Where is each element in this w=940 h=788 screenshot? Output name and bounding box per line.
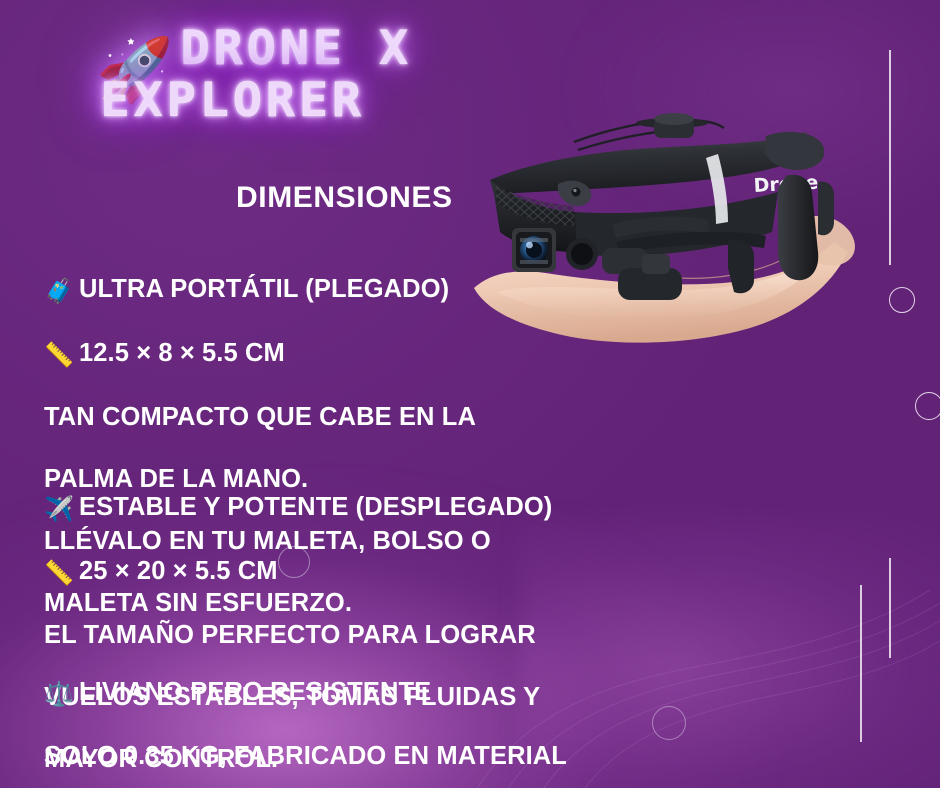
section-line: SOLO 0.35 KG, FABRICADO EN MATERIAL (44, 741, 684, 772)
brand-title-line-2: EXPLORER (92, 78, 633, 124)
brand-title: DRONE X EXPLORER (92, 26, 612, 124)
section-line: TAN COMPACTO QUE CABE EN LA (44, 402, 684, 433)
section-title: LIVIANO PERO RESISTENTE (79, 678, 431, 706)
airplane-icon: ✈️ (44, 494, 74, 525)
section-title-row: ✈️ESTABLE Y POTENTE (DESPLEGADO) (44, 492, 684, 525)
circle-mid-right (915, 392, 940, 420)
page-title: DIMENSIONES (236, 181, 453, 215)
balance-scale-icon: ⚖️ (44, 679, 74, 710)
brand-title-block: 🚀 DRONE X EXPLORER (92, 26, 612, 124)
section-title: ESTABLE Y POTENTE (DESPLEGADO) (79, 493, 552, 521)
section-measure-row: 📏25 × 20 × 5.5 CM (44, 556, 684, 589)
section-measure-row: 📏12.5 × 8 × 5.5 CM (44, 338, 684, 371)
vertical-line-bottom-right-inner (860, 585, 862, 742)
section-measure: 12.5 × 8 × 5.5 CM (79, 339, 285, 367)
circle-upper-right (889, 287, 915, 313)
luggage-icon: 🧳 (44, 276, 74, 307)
ruler-icon: 📏 (44, 558, 74, 589)
section-title-row: ⚖️LIVIANO PERO RESISTENTE (44, 677, 684, 710)
section-title-row: 🧳ULTRA PORTÁTIL (PLEGADO) (44, 274, 684, 307)
vertical-line-top-right (889, 50, 891, 265)
poster-canvas: Drone (0, 0, 940, 788)
brand-title-line-1: DRONE X (92, 26, 633, 72)
ruler-icon: 📏 (44, 340, 74, 371)
section-liviano-resistente: ⚖️LIVIANO PERO RESISTENTE SOLO 0.35 KG, … (44, 646, 684, 788)
vertical-line-bottom-right-outer (889, 558, 891, 658)
section-title: ULTRA PORTÁTIL (PLEGADO) (79, 275, 449, 303)
section-measure: 25 × 20 × 5.5 CM (79, 557, 278, 585)
